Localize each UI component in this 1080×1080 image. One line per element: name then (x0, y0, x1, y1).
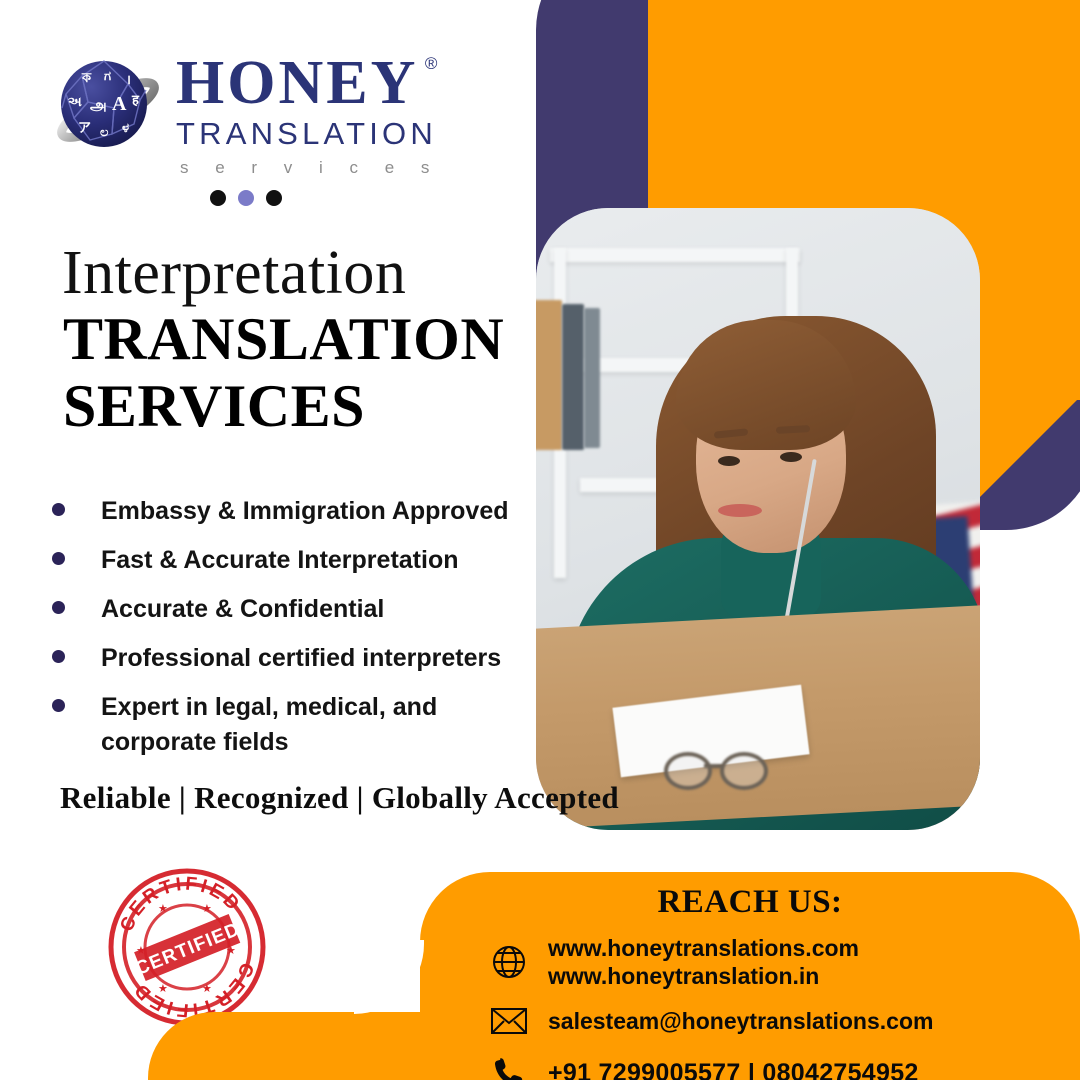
svg-text:ಲ: ಲ (100, 124, 109, 139)
contact-row-website[interactable]: www.honeytranslations.com www.honeytrans… (488, 934, 859, 990)
svg-text:★: ★ (158, 903, 168, 915)
brand-logo[interactable]: ক ಗ । અ அ A ह ア ಲ ಳ HONEY ® TRANSLATION … (52, 46, 440, 178)
list-item: Expert in legal, medical, and corporate … (52, 690, 522, 760)
headline-script-line: Interpretation (62, 238, 406, 309)
globe-languages-icon: ক ಗ । અ அ A ह ア ಲ ಳ (52, 52, 164, 164)
bullet-icon (52, 650, 65, 663)
photo-shelf (550, 248, 800, 262)
website-primary[interactable]: www.honeytranslations.com (548, 934, 859, 962)
photo-glasses (664, 752, 774, 786)
reach-panel-notch (354, 940, 424, 1014)
photo-eye (780, 452, 802, 462)
feature-label: Embassy & Immigration Approved (101, 494, 509, 529)
svg-text:★: ★ (202, 903, 212, 915)
headline-bold-block: TRANSLATION SERVICES (63, 306, 504, 440)
reach-us-title: REACH US: (420, 884, 1080, 921)
website-list: www.honeytranslations.com www.honeytrans… (548, 934, 859, 990)
bullet-icon (52, 552, 65, 565)
brand-wordmark: HONEY ® TRANSLATION s e r v i c e s (176, 46, 440, 178)
list-item: Fast & Accurate Interpretation (52, 543, 522, 578)
contact-row-email[interactable]: salesteam@honeytranslations.com (488, 1000, 933, 1042)
svg-text:અ: અ (68, 94, 82, 109)
photo-book (536, 300, 562, 450)
dot-2 (238, 190, 254, 206)
list-item: Accurate & Confidential (52, 592, 522, 627)
tagline: Reliable | Recognized | Globally Accepte… (60, 780, 619, 816)
certified-stamp-icon: CERTIFIED CERTIFIED ★ ★ ★ ★ ★ ★ CERTIFIE… (106, 866, 268, 1028)
headline-line-1: TRANSLATION (63, 306, 504, 373)
svg-text:ಗ: ಗ (104, 68, 111, 83)
svg-text:A: A (112, 93, 127, 115)
bullet-icon (52, 601, 65, 614)
feature-label: Fast & Accurate Interpretation (101, 543, 458, 578)
email-address[interactable]: salesteam@honeytranslations.com (548, 1007, 933, 1035)
dot-3 (266, 190, 282, 206)
bullet-icon (52, 503, 65, 516)
hero-photo (536, 208, 980, 830)
brand-name-secondary: TRANSLATION (176, 116, 440, 152)
photo-book (584, 308, 600, 448)
phone-numbers[interactable]: +91 7299005577 | 08042754952 (548, 1058, 919, 1080)
registered-trademark-icon: ® (425, 56, 441, 72)
svg-text:ಳ: ಳ (122, 120, 129, 135)
list-item: Professional certified interpreters (52, 641, 522, 676)
feature-label: Expert in legal, medical, and corporate … (101, 690, 441, 760)
svg-text:★: ★ (202, 983, 212, 995)
globe-icon (488, 941, 530, 983)
dot-1 (210, 190, 226, 206)
list-item: Embassy & Immigration Approved (52, 494, 522, 529)
decorative-dots (210, 190, 282, 206)
svg-text:அ: அ (90, 98, 107, 114)
feature-label: Professional certified interpreters (101, 641, 501, 676)
brand-name-primary: HONEY (176, 49, 418, 117)
phone-icon (488, 1052, 530, 1080)
brand-name-tertiary: s e r v i c e s (176, 158, 440, 178)
photo-eye (718, 456, 740, 466)
svg-text:ক: ক (81, 70, 92, 85)
reach-us-content: REACH US: www.honeytranslations.com www.… (420, 872, 1080, 1080)
feature-label: Accurate & Confidential (101, 592, 384, 627)
svg-text:।: । (126, 72, 131, 87)
svg-text:ア: ア (78, 120, 91, 135)
website-secondary[interactable]: www.honeytranslation.in (548, 962, 859, 990)
envelope-icon (488, 1000, 530, 1042)
photo-lips (718, 504, 762, 517)
svg-text:★: ★ (158, 983, 168, 995)
photo-book (562, 304, 584, 450)
bullet-icon (52, 699, 65, 712)
contact-row-phone[interactable]: +91 7299005577 | 08042754952 (488, 1052, 919, 1080)
headline-line-2: SERVICES (63, 373, 504, 440)
svg-text:ह: ह (131, 92, 140, 107)
poster-canvas: ক ಗ । અ அ A ह ア ಲ ಳ HONEY ® TRANSLATION … (0, 0, 1080, 1080)
feature-list: Embassy & Immigration Approved Fast & Ac… (52, 494, 522, 774)
